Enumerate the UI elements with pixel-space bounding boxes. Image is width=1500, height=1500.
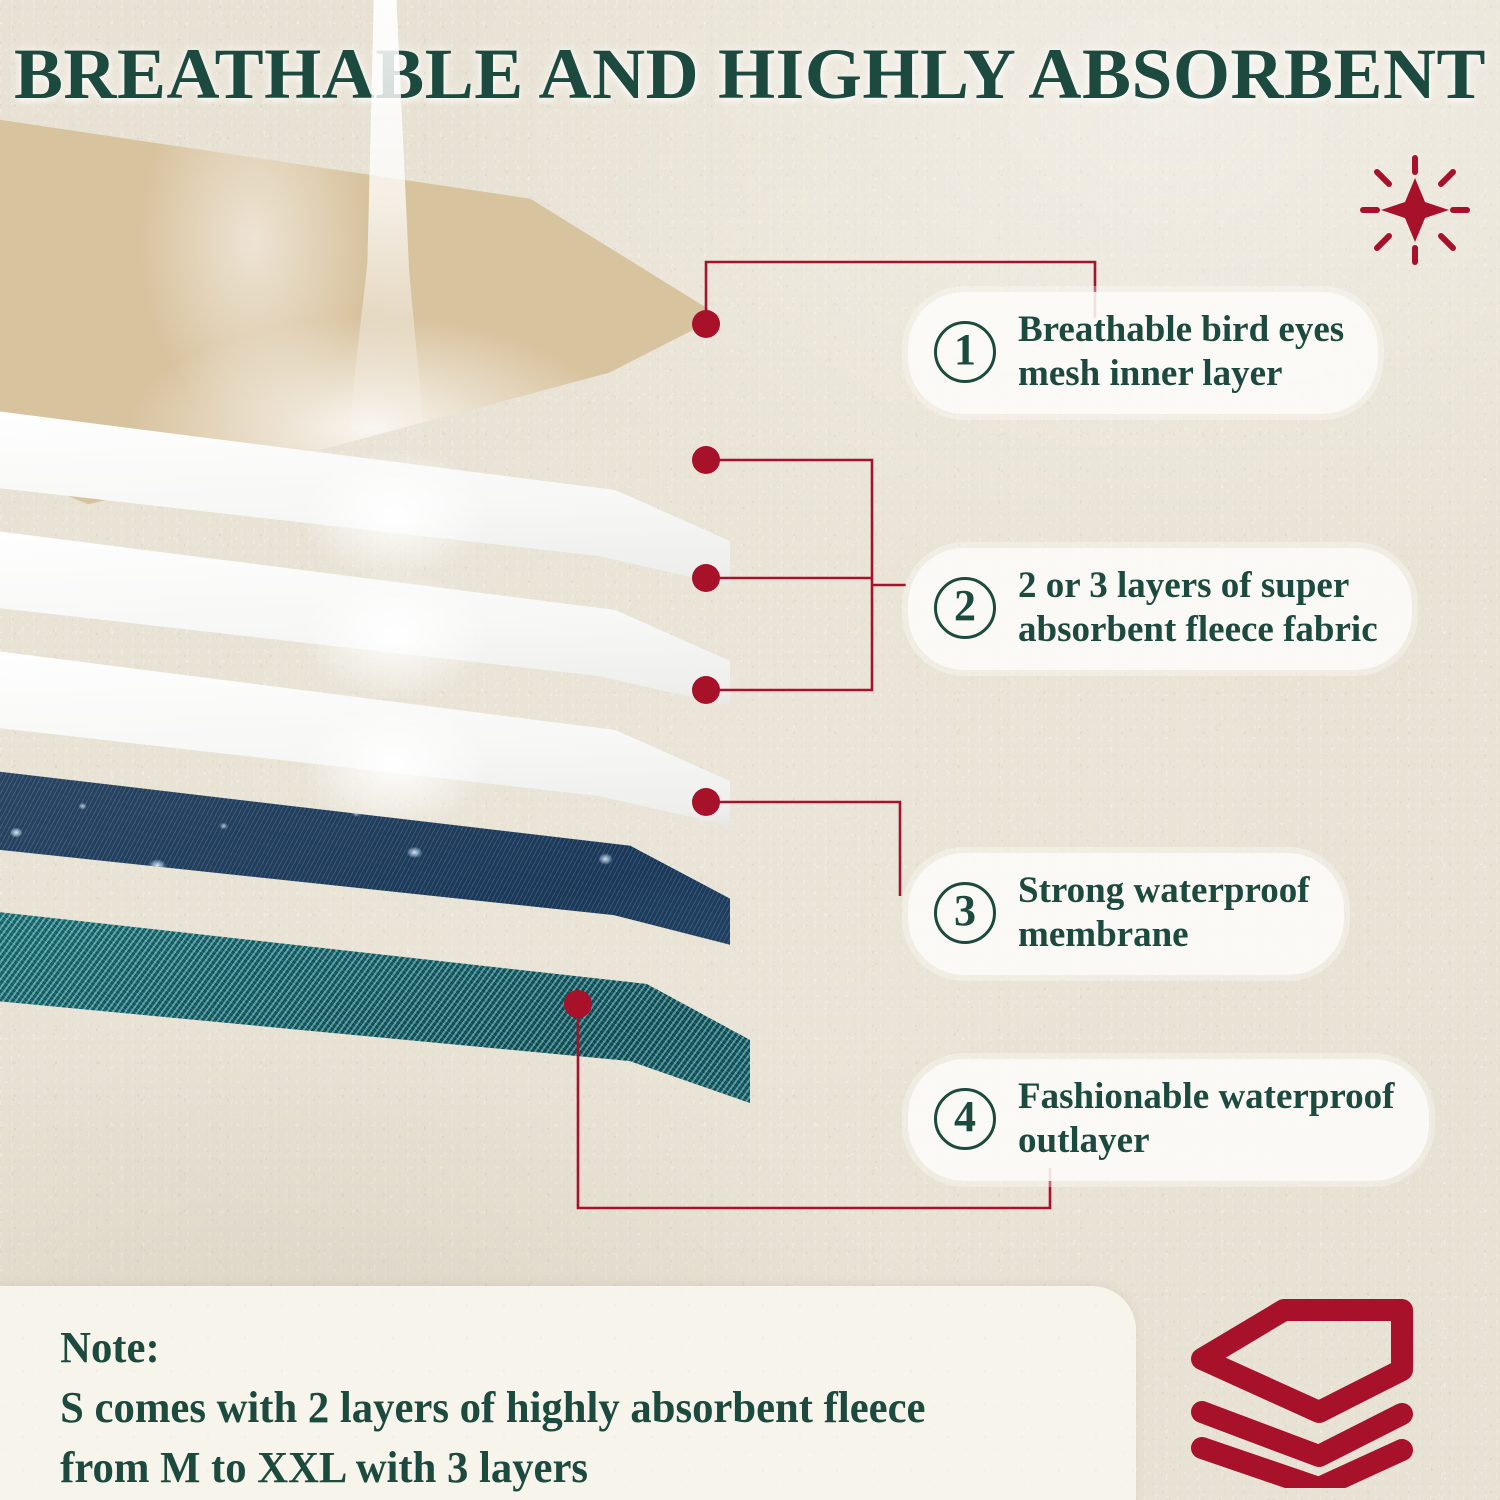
callout-2[interactable]: 2 2 or 3 layers of super absorbent fleec… <box>908 548 1412 670</box>
layers-stack-icon <box>1188 1296 1450 1488</box>
fabric-layer-stack-illustration <box>0 100 800 1180</box>
callout-4[interactable]: 4 Fashionable waterproof outlayer <box>908 1059 1429 1181</box>
infographic-canvas: BREATHABLE AND HIGHLY ABSORBENT <box>0 0 1500 1500</box>
callout-2-number: 2 <box>934 577 996 639</box>
callout-1-number: 1 <box>934 321 996 383</box>
sparkle-icon <box>1355 150 1475 270</box>
callout-2-label: 2 or 3 layers of super absorbent fleece … <box>1018 564 1378 652</box>
callout-4-number: 4 <box>934 1088 996 1150</box>
callout-3-number: 3 <box>934 882 996 944</box>
callout-3-label: Strong waterproof membrane <box>1018 869 1310 957</box>
note-text: Note: S comes with 2 layers of highly ab… <box>0 1286 1102 1498</box>
note-panel: Note: S comes with 2 layers of highly ab… <box>0 1286 1136 1500</box>
callout-1[interactable]: 1 Breathable bird eyes mesh inner layer <box>908 292 1378 414</box>
callout-1-label: Breathable bird eyes mesh inner layer <box>1018 308 1344 396</box>
callout-3[interactable]: 3 Strong waterproof membrane <box>908 853 1344 975</box>
callout-4-label: Fashionable waterproof outlayer <box>1018 1075 1395 1163</box>
